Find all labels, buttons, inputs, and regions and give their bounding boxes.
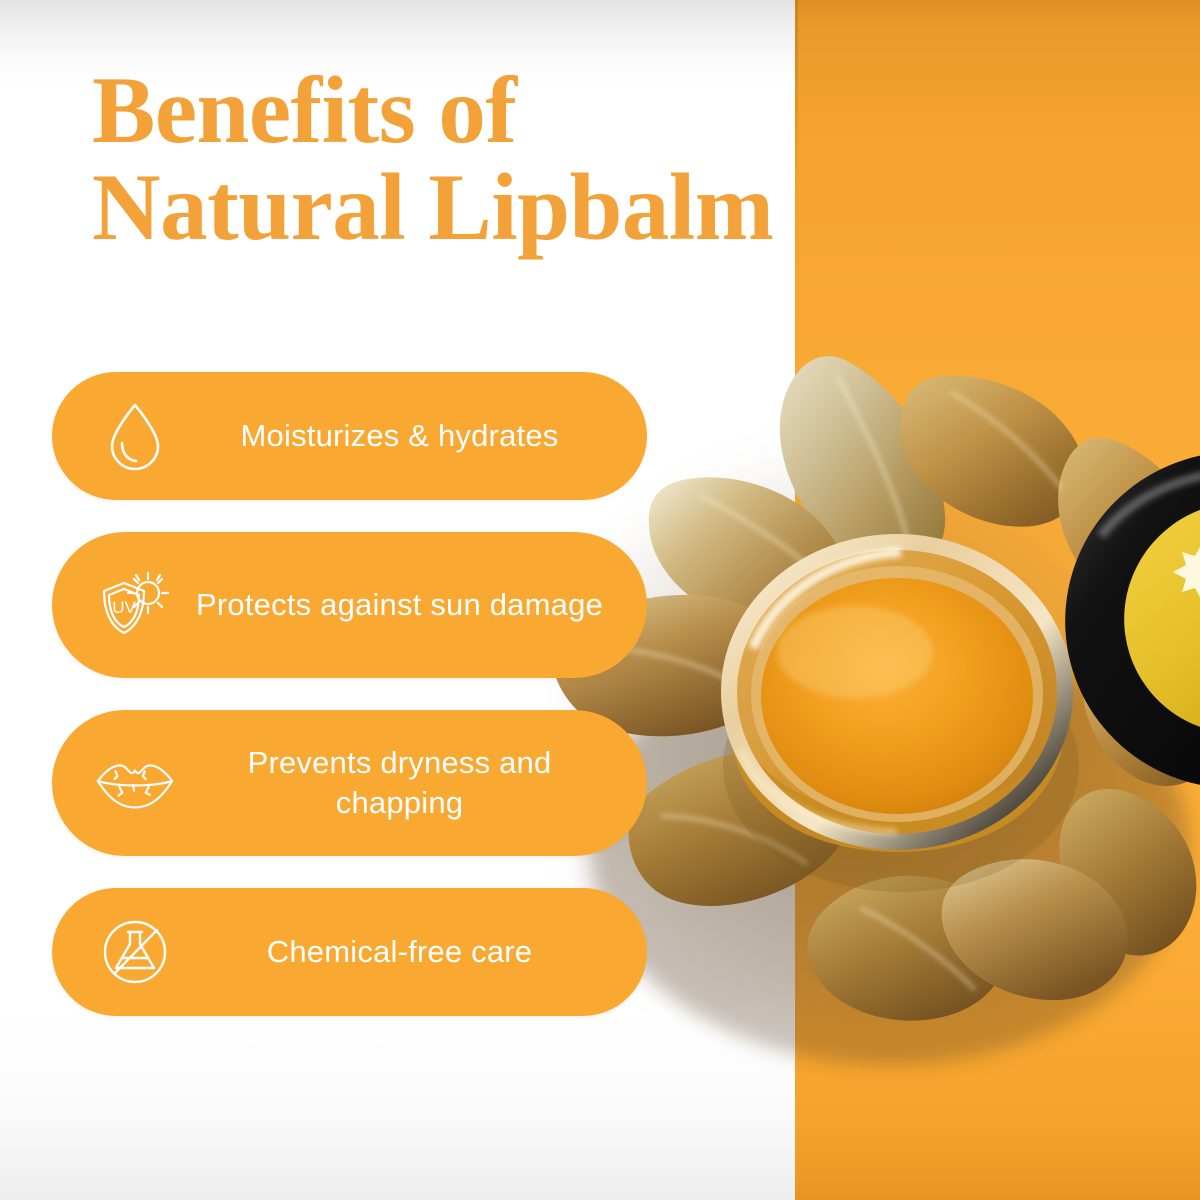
infographic-canvas: Benefits of Natural Lipbalm bbox=[0, 0, 1200, 1200]
benefit-item-chemical-free[interactable]: Chemical-free care bbox=[52, 888, 647, 1016]
chapped-lips-icon bbox=[94, 742, 176, 824]
benefit-label: Chemical-free care bbox=[176, 932, 621, 972]
benefit-item-sun-protection[interactable]: UV Protects against sun damage bbox=[52, 532, 647, 678]
no-chemicals-flask-icon bbox=[94, 911, 176, 993]
benefit-label: Moisturizes & hydrates bbox=[176, 416, 621, 456]
benefit-item-moisturizes[interactable]: Moisturizes & hydrates bbox=[52, 372, 647, 500]
benefit-label: Prevents dryness and chapping bbox=[176, 743, 621, 822]
uv-shield-sun-icon: UV bbox=[94, 564, 176, 646]
benefit-item-prevents-chapping[interactable]: Prevents dryness and chapping bbox=[52, 710, 647, 856]
benefits-list: Moisturizes & hydrates UV bbox=[52, 372, 647, 1048]
page-title: Benefits of Natural Lipbalm bbox=[92, 62, 922, 256]
svg-text:UV: UV bbox=[112, 598, 136, 617]
water-drop-icon bbox=[94, 395, 176, 477]
product-drop-shadow bbox=[575, 430, 1195, 1010]
benefit-label: Protects against sun damage bbox=[176, 585, 621, 625]
